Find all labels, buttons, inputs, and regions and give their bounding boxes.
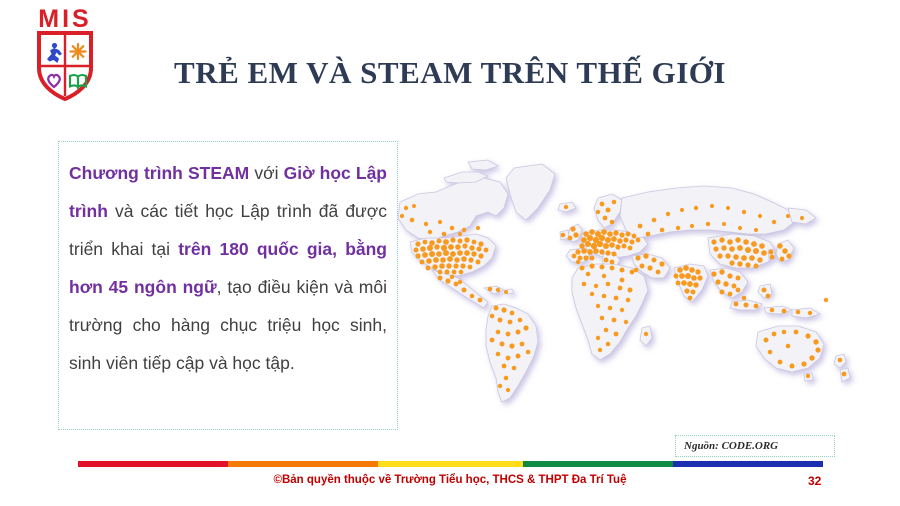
page-number: 32 (808, 474, 848, 488)
source-label: Nguồn: CODE.ORG (684, 440, 778, 452)
bar-orange (228, 461, 378, 467)
page-title: TRẺ EM VÀ STEAM TRÊN THẾ GIỚI (140, 55, 760, 91)
bar-yellow (378, 461, 523, 467)
school-logo: MIS (22, 6, 108, 102)
description-textbox: Chương trình STEAM với Giờ học Lập trình… (58, 141, 398, 430)
copyright-footer: ©Bản quyền thuộc về Trường Tiểu học, THC… (0, 474, 900, 486)
bar-green (523, 461, 673, 467)
slide-canvas: MIS (0, 0, 900, 506)
body-text-run: với (249, 163, 283, 183)
shield-icon (35, 30, 95, 102)
world-map (392, 150, 862, 420)
bar-blue (673, 461, 823, 467)
sun-burst-icon (71, 44, 86, 59)
description-paragraph: Chương trình STEAM với Giờ học Lập trình… (69, 154, 387, 382)
logo-text: MIS (22, 6, 108, 32)
source-caption-box: Nguồn: CODE.ORG (675, 435, 835, 457)
highlighted-phrase: Chương trình STEAM (69, 163, 249, 183)
footer-color-bar (78, 461, 823, 467)
bar-red (78, 461, 228, 467)
world-map-svg (392, 150, 862, 420)
